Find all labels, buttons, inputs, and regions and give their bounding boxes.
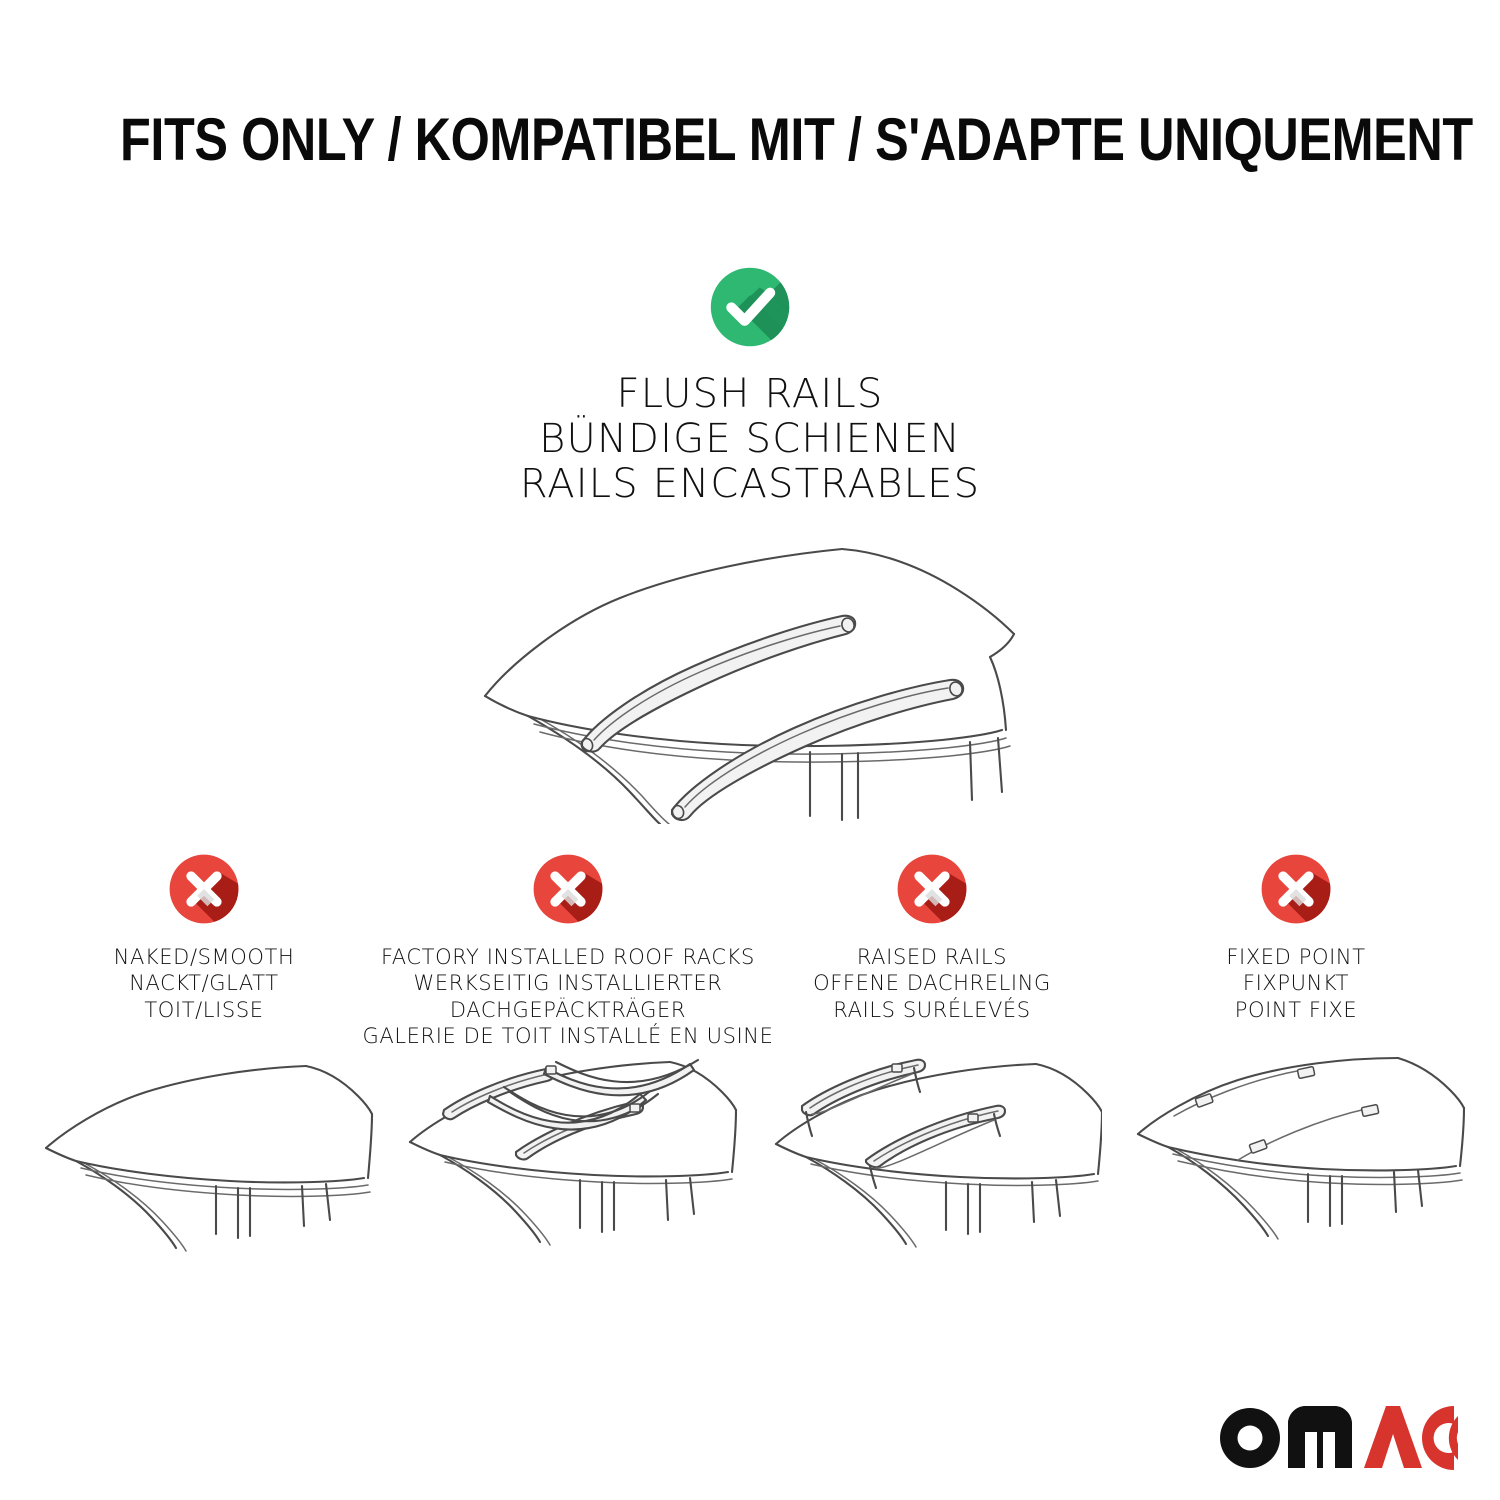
car-roof-fixed-point-illustration <box>1126 1056 1466 1266</box>
x-circle-icon <box>889 846 975 932</box>
incompatible-labels-fixed-point: FIXED POINT FIXPUNKT POINT FIXE <box>1226 944 1365 1052</box>
incompatible-item-fixed-point: FIXED POINT FIXPUNKT POINT FIXE <box>1120 846 1472 1266</box>
car-roof-flush-rails-illustration <box>450 524 1050 824</box>
compatible-label-en: FLUSH RAILS <box>520 372 980 417</box>
x-circle-icon <box>525 846 611 932</box>
label-de: NACKT/GLATT <box>114 970 295 996</box>
check-circle-icon <box>701 258 799 356</box>
page-title: FITS ONLY / KOMPATIBEL MIT / S'ADAPTE UN… <box>120 105 1380 174</box>
incompatible-labels-naked: NAKED/SMOOTH NACKT/GLATT TOIT/LISSE <box>114 944 295 1052</box>
label-en: RAISED RAILS <box>813 944 1051 970</box>
omac-logo <box>1216 1398 1458 1472</box>
label-fr: TOIT/LISSE <box>114 997 295 1023</box>
compatible-labels: FLUSH RAILS BÜNDIGE SCHIENEN RAILS ENCAS… <box>520 372 980 506</box>
car-roof-naked-illustration <box>34 1056 374 1266</box>
label-fr: GALERIE DE TOIT INSTALLÉ EN USINE <box>363 1023 774 1049</box>
compatible-section: FLUSH RAILS BÜNDIGE SCHIENEN RAILS ENCAS… <box>0 258 1500 824</box>
label-en: FACTORY INSTALLED ROOF RACKS <box>363 944 774 970</box>
x-circle-icon <box>161 846 247 932</box>
incompatible-item-raised-rails: RAISED RAILS OFFENE DACHRELING RAILS SUR… <box>756 846 1108 1266</box>
car-roof-factory-racks-illustration <box>398 1056 738 1266</box>
incompatible-labels-factory-racks: FACTORY INSTALLED ROOF RACKS WERKSEITIG … <box>363 944 774 1052</box>
label-de: OFFENE DACHRELING <box>813 970 1051 996</box>
label-en: NAKED/SMOOTH <box>114 944 295 970</box>
label-en: FIXED POINT <box>1226 944 1365 970</box>
compatible-label-fr: RAILS ENCASTRABLES <box>520 462 980 507</box>
incompatible-item-naked: NAKED/SMOOTH NACKT/GLATT TOIT/LISSE <box>28 846 380 1266</box>
compatible-label-de: BÜNDIGE SCHIENEN <box>520 417 980 462</box>
car-roof-raised-rails-illustration <box>762 1056 1102 1266</box>
incompatible-item-factory-racks: FACTORY INSTALLED ROOF RACKS WERKSEITIG … <box>392 846 744 1266</box>
label-de-1: WERKSEITIG INSTALLIERTER <box>363 970 774 996</box>
label-de-2: DACHGEPÄCKTRÄGER <box>363 997 774 1023</box>
label-fr: RAILS SURÉLEVÉS <box>813 997 1051 1023</box>
incompatible-section: NAKED/SMOOTH NACKT/GLATT TOIT/LISSE <box>0 846 1500 1266</box>
label-fr: POINT FIXE <box>1226 997 1365 1023</box>
incompatible-labels-raised-rails: RAISED RAILS OFFENE DACHRELING RAILS SUR… <box>813 944 1051 1052</box>
x-circle-icon <box>1253 846 1339 932</box>
label-de: FIXPUNKT <box>1226 970 1365 996</box>
